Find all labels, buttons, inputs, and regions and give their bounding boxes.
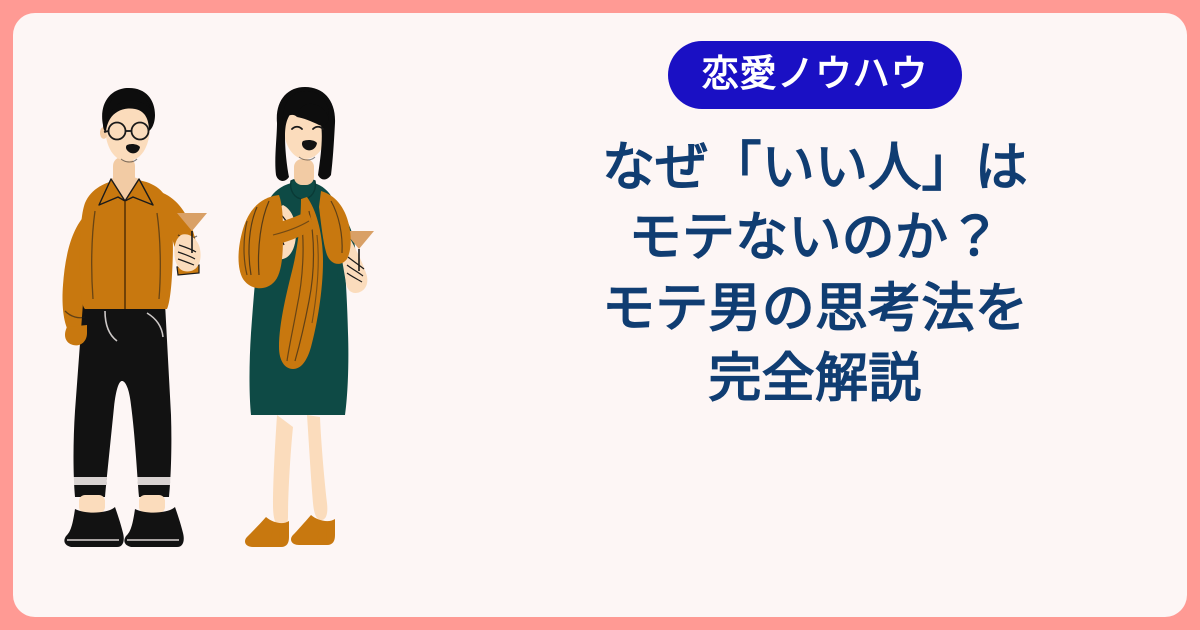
headline-line-3: モテ男の思考法を: [602, 274, 1028, 344]
man-trousers: [74, 303, 172, 497]
couple-illustration: [21, 85, 441, 565]
illustration-area: [13, 13, 443, 617]
woman-leg-right: [307, 415, 327, 520]
category-badge: 恋愛ノウハウ: [668, 41, 962, 109]
page-title: なぜ「いい人」は モテないのか？ モテ男の思考法を 完全解説: [592, 133, 1038, 415]
headline-line-4: 完全解説: [602, 344, 1028, 414]
text-area: 恋愛ノウハウ なぜ「いい人」は モテないのか？ モテ男の思考法を 完全解説: [443, 13, 1187, 617]
headline-line-2: モテないのか？: [602, 203, 1028, 273]
woman-heel-right: [291, 515, 335, 545]
man-cuff-left: [73, 477, 107, 485]
woman-figure: [239, 87, 375, 547]
woman-neck: [294, 159, 314, 185]
man-hand-right: [174, 234, 200, 271]
man-shoe-left: [64, 507, 123, 547]
man-figure: [62, 88, 207, 547]
man-cuff-right: [137, 477, 171, 485]
woman-leg-left: [273, 415, 293, 528]
category-badge-label: 恋愛ノウハウ: [702, 55, 928, 92]
glasses-temple: [104, 131, 109, 132]
man-ankle-right: [139, 495, 165, 513]
headline-line-1: なぜ「いい人」は: [602, 133, 1028, 203]
thumbnail-card: 恋愛ノウハウ なぜ「いい人」は モテないのか？ モテ男の思考法を 完全解説: [0, 0, 1200, 630]
inner-panel: 恋愛ノウハウ なぜ「いい人」は モテないのか？ モテ男の思考法を 完全解説: [13, 13, 1187, 617]
man-shoe-right: [124, 507, 183, 547]
man-ankle-left: [79, 495, 105, 513]
